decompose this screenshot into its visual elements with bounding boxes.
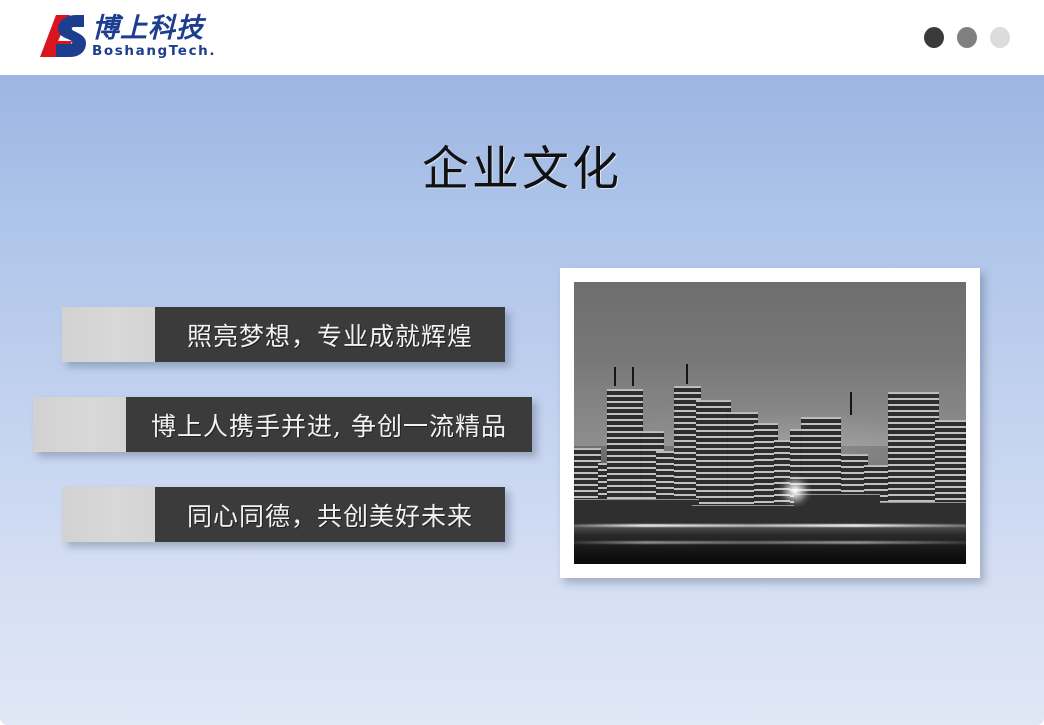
- photo-lowrise: [880, 502, 966, 525]
- bar-tab: [33, 397, 126, 452]
- photo-ground: [574, 525, 966, 564]
- dot-dark-icon[interactable]: [924, 27, 944, 48]
- bar-tab: [62, 487, 155, 542]
- photo-light-streak: [574, 524, 966, 527]
- bar-body: 博上人携手并进, 争创一流精品: [126, 397, 532, 452]
- city-skyline-night-photo: [574, 282, 966, 564]
- photo-spire: [614, 367, 616, 387]
- photo-lowrise: [692, 505, 794, 525]
- bar-body: 同心同德，共创美好未来: [155, 487, 505, 542]
- slide-header: 博上科技 BoshangTech.: [0, 0, 1044, 75]
- bar-text: 博上人携手并进, 争创一流精品: [151, 407, 507, 443]
- dot-light-icon[interactable]: [990, 27, 1010, 48]
- photo-light-flare: [778, 474, 812, 508]
- culture-bar-2: 博上人携手并进, 争创一流精品: [33, 397, 532, 452]
- bar-body: 照亮梦想，专业成就辉煌: [155, 307, 505, 362]
- slide-canvas: 企业文化 照亮梦想，专业成就辉煌 博上人携手并进, 争创一流精品 同心同德，共创…: [0, 75, 1044, 725]
- culture-bar-3: 同心同德，共创美好未来: [62, 487, 505, 542]
- bar-tab: [62, 307, 155, 362]
- logo-wordmark: 博上科技 BoshangTech.: [92, 15, 216, 59]
- photo-lowrise: [574, 499, 699, 524]
- photo-spire: [686, 364, 688, 384]
- photo-spire: [632, 367, 634, 387]
- logo-name-cn: 博上科技: [92, 15, 216, 42]
- logo-name-en: BoshangTech.: [92, 45, 216, 59]
- photo-spire: [850, 392, 852, 415]
- dot-medium-icon[interactable]: [957, 27, 977, 48]
- header-dots: [924, 27, 1010, 48]
- bar-text: 照亮梦想，专业成就辉煌: [187, 317, 473, 353]
- slide-root: 博上科技 BoshangTech. 企业文化 照亮梦想，专业成就辉煌 博上人携手…: [0, 0, 1044, 725]
- bar-text: 同心同德，共创美好未来: [187, 497, 473, 533]
- boshang-logo-mark-icon: [36, 13, 88, 61]
- company-logo[interactable]: 博上科技 BoshangTech.: [36, 11, 216, 63]
- culture-bar-1: 照亮梦想，专业成就辉煌: [62, 307, 505, 362]
- photo-light-streak: [574, 541, 966, 544]
- page-title: 企业文化: [0, 130, 1044, 199]
- photo-frame: [560, 268, 980, 578]
